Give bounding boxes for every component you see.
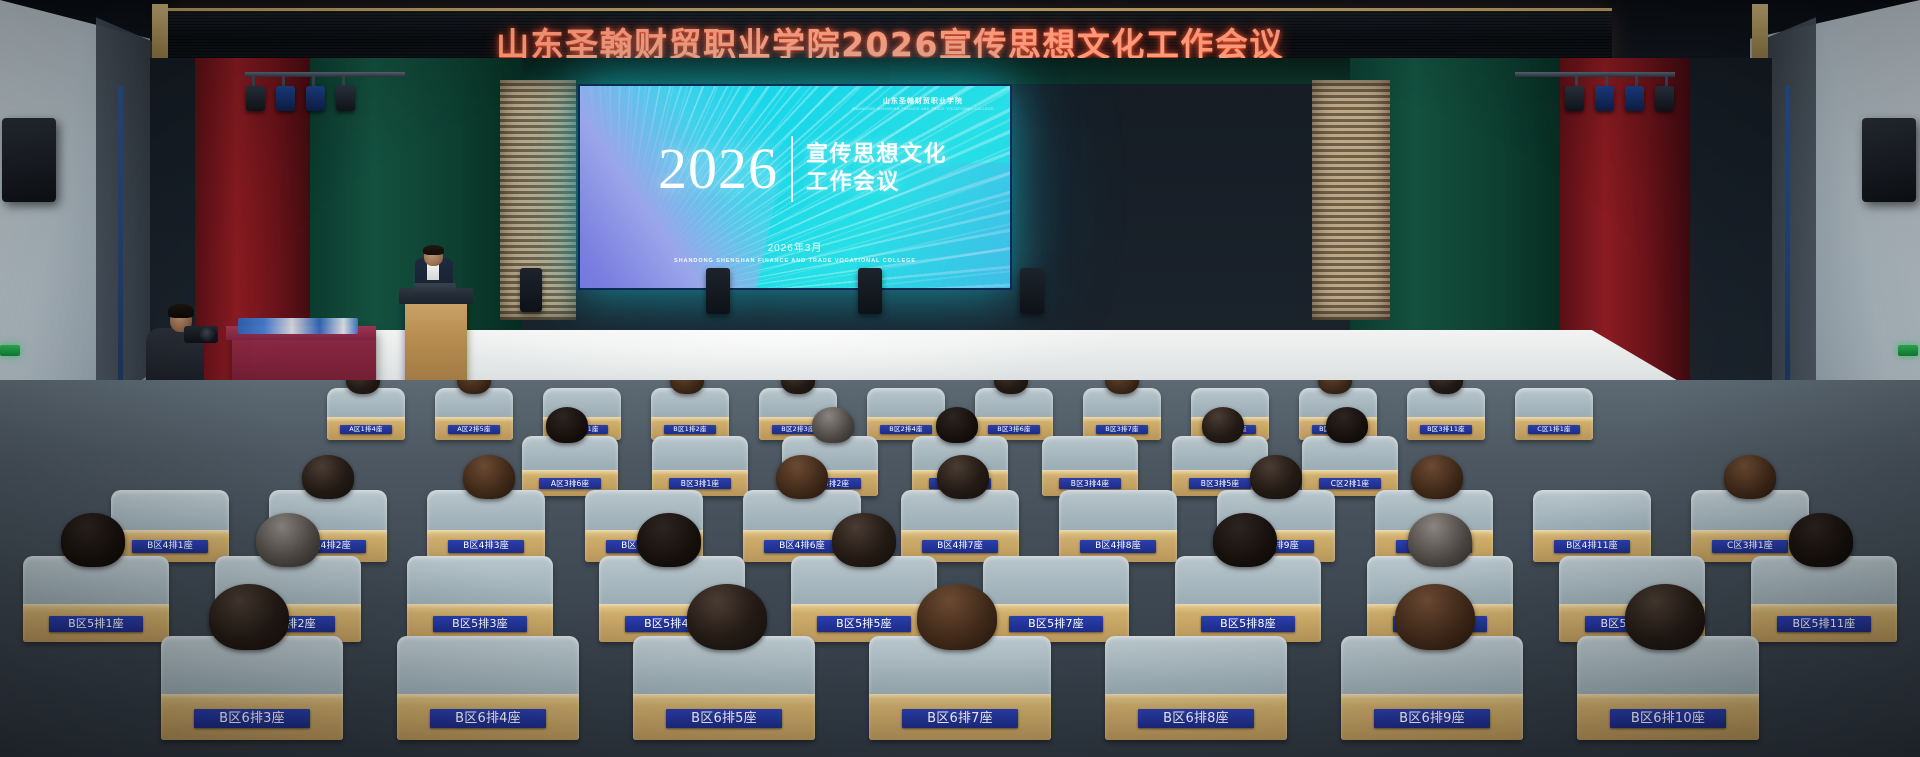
lamp-stem [282,76,285,86]
stage-monitor-speaker [706,268,730,314]
audience-member-head [209,584,289,650]
seat[interactable]: B区1排2座 [651,388,729,440]
audience-member-head [812,407,854,443]
right-wall-accent-strip [1785,86,1790,386]
stage-light-icon [1565,86,1584,111]
audience-member-head [937,455,989,499]
seat-label: B区4排8座 [1080,540,1156,553]
audience-member-head [463,455,515,499]
seat-label: B区3排1座 [669,478,731,489]
emergency-exit-sign-right [1898,345,1918,356]
audience-member-head [546,407,588,443]
seat-label: B区3排6座 [988,425,1040,434]
stage-light-icon [1625,86,1644,111]
seat[interactable]: B区5排8座 [1175,556,1321,642]
seat[interactable]: A区2排5座 [435,388,513,440]
lamp-stem [1635,76,1638,86]
audience-member-head [1789,513,1853,567]
seat-label: B区5排11座 [1777,616,1871,632]
stage-light-icon [306,86,325,111]
seat-label: B区6排9座 [1374,709,1490,728]
college-logo-en: SHANDONG SHENGHAN FINANCE AND TRADE VOCA… [852,107,994,111]
seat-row: B区6排3座B区6排4座B区6排5座B区6排7座B区6排8座B区6排9座B区6排… [0,636,1920,740]
lamp-stem [342,76,345,86]
seat[interactable]: B区3排11座 [1407,388,1485,440]
lighting-truss-left [245,72,405,77]
audience-member-head [1326,407,1368,443]
seat[interactable]: B区2排4座 [867,388,945,440]
seat-label: C区1排1座 [1528,425,1580,434]
seat[interactable]: B区6排7座 [869,636,1051,740]
seat-label: B区5排3座 [433,616,527,632]
screen-year: 2026 [658,141,778,197]
projection-screen: 山东圣翰财贸职业学院 SHANDONG SHENGHAN FINANCE AND… [578,84,1012,290]
audience-member-head [61,513,125,567]
presenter-hair [423,245,444,255]
seat-label: B区6排8座 [1138,709,1254,728]
lamp-stem [1665,76,1668,86]
stage-monitor-speaker [858,268,882,314]
audience-member-head [687,584,767,650]
audience-member-head [832,513,896,567]
seat[interactable]: B区4排7座 [901,490,1019,562]
screen-english-name: SHANDONG SHENGHAN FINANCE AND TRADE VOCA… [580,258,1010,264]
seat-label: C区3排1座 [1712,540,1788,553]
audience-member-head [1724,455,1776,499]
seat-label: B区3排7座 [1096,425,1148,434]
seat-label: B区6排10座 [1610,709,1726,728]
stage-light-icon [246,86,265,111]
lamp-stem [1605,76,1608,86]
seat-label: A区1排4座 [340,425,392,434]
left-wall-speaker [2,118,56,202]
seat-label: B区5排7座 [1009,616,1103,632]
seat[interactable]: B区3排4座 [1042,436,1138,496]
audience-member-head [1213,513,1277,567]
audience-member-head [1625,584,1705,650]
lighting-truss-right [1515,72,1675,77]
seat-label: B区4排3座 [448,540,524,553]
stage-light-icon [1655,86,1674,111]
seat[interactable]: C区2排1座 [1302,436,1398,496]
right-wall-speaker [1862,118,1916,202]
stage-monitor-speaker [520,268,542,312]
lamp-stem [1575,76,1578,86]
audience-member-head [1411,455,1463,499]
photographer-hair [168,304,194,318]
emergency-exit-sign [0,345,20,356]
lamp-stem [252,76,255,86]
seat[interactable]: B区6排5座 [633,636,815,740]
seat-label: B区3排5座 [1189,478,1251,489]
table-materials [238,318,358,334]
seat-label: B区6排5座 [666,709,782,728]
lamp-stem [312,76,315,86]
seat[interactable]: B区5排5座 [791,556,937,642]
seat[interactable]: B区4排8座 [1059,490,1177,562]
presenter-shirt [427,264,439,280]
seat-label: B区1排2座 [664,425,716,434]
seat[interactable]: B区6排8座 [1105,636,1287,740]
screen-headline: 2026 宣传思想文化 工作会议 [658,136,947,202]
seat-label: B区6排4座 [430,709,546,728]
stage-light-icon [1595,86,1614,111]
audience-member-head [917,584,997,650]
audience-member-head [1408,513,1472,567]
screen-subtitle-block: 2026年3月 SHANDONG SHENGHAN FINANCE AND TR… [580,239,1010,264]
seat[interactable]: B区6排9座 [1341,636,1523,740]
screen-title-line2: 工作会议 [806,169,947,197]
seat[interactable]: B区5排3座 [407,556,553,642]
seat[interactable]: B区6排4座 [397,636,579,740]
screen-date: 2026年3月 [580,239,1010,254]
college-logo: 山东圣翰财贸职业学院 SHANDONG SHENGHAN FINANCE AND… [852,96,994,111]
seat[interactable]: B区5排7座 [983,556,1129,642]
seat-label: B区6排7座 [902,709,1018,728]
seat-label: B区5排5座 [817,616,911,632]
seat-label: B区5排8座 [1201,616,1295,632]
seat-label: B区4排11座 [1554,540,1630,553]
stage-light-icon [336,86,355,111]
seat[interactable]: B区5排11座 [1751,556,1897,642]
seat[interactable]: B区6排10座 [1577,636,1759,740]
seat[interactable]: B区5排1座 [23,556,169,642]
seat-label: B区3排4座 [1059,478,1121,489]
seat[interactable]: B区3排7座 [1083,388,1161,440]
seat-label: B区5排1座 [49,616,143,632]
audience-member-head [1250,455,1302,499]
seat-label: C区2排1座 [1319,478,1381,489]
conference-hall-photo: 山东圣翰财贸职业学院2026宣传思想文化工作会议 山东圣翰财贸职业学院 SHAN… [0,0,1920,757]
audience-member-head [1202,407,1244,443]
audience-area: A区1排4座A区2排5座B区1排1座B区1排2座B区2排3座B区2排4座B区3排… [0,380,1920,757]
audience-member-head [256,513,320,567]
seat[interactable]: B区3排1座 [652,436,748,496]
seat-label: B区4排7座 [922,540,998,553]
seat-label: B区6排3座 [194,709,310,728]
left-wall-accent-strip [118,86,123,386]
seat[interactable]: A区1排4座 [327,388,405,440]
acoustic-wood-panel-right [1312,80,1390,320]
camera-lens-icon [200,327,217,342]
podium-laptop [414,283,456,296]
audience-member-head [936,407,978,443]
screen-title-block: 宣传思想文化 工作会议 [806,141,947,196]
screen-divider [791,136,793,202]
seat[interactable]: C区1排1座 [1515,388,1593,440]
seat-label: B区4排6座 [764,540,840,553]
stage-light-icon [276,86,295,111]
seat[interactable]: B区6排3座 [161,636,343,740]
screen-title-line1: 宣传思想文化 [806,141,947,169]
audience-member-head [1395,584,1475,650]
seat-label: B区4排1座 [132,540,208,553]
audience-member-head [776,455,828,499]
seat-label: A区2排5座 [448,425,500,434]
college-logo-cn: 山东圣翰财贸职业学院 [852,96,994,106]
seat[interactable]: B区3排6座 [975,388,1053,440]
seat-label: B区2排4座 [880,425,932,434]
audience-member-head [302,455,354,499]
seat-label: B区3排11座 [1420,425,1472,434]
seat[interactable]: B区4排3座 [427,490,545,562]
seat-label: A区3排6座 [539,478,601,489]
stage-monitor-speaker [1020,268,1044,314]
seat[interactable]: B区4排1座 [111,490,229,562]
seat[interactable]: B区4排11座 [1533,490,1651,562]
audience-member-head [637,513,701,567]
seat[interactable]: A区3排6座 [522,436,618,496]
